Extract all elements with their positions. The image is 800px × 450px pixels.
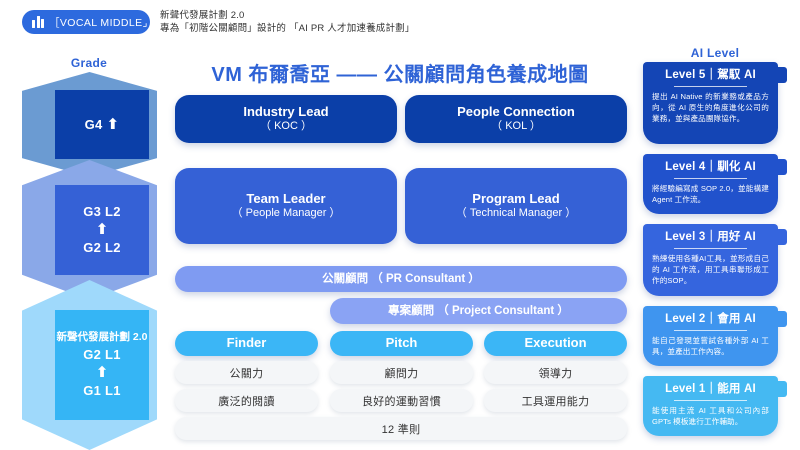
up-arrow-icon: ⬆ bbox=[96, 222, 109, 238]
grade-column-heading: Grade bbox=[34, 56, 144, 70]
foundation-label: 12 準則 bbox=[382, 421, 421, 437]
ai-level-title: Level 2｜會用 AI bbox=[652, 312, 769, 327]
role-card-pr-consultant[interactable]: 公關顧問 （ PR Consultant ） bbox=[175, 266, 627, 292]
foundation-habit-1: 廣泛的閱讀 bbox=[175, 389, 318, 412]
divider bbox=[674, 330, 747, 331]
ai-level-column-heading: AI Level bbox=[645, 46, 785, 60]
grade-label-g2l1: G2 L1 bbox=[83, 345, 121, 365]
grade-band-g2l1-g1l1: 新聲代發展計劃 2.0 G2 L1 ⬆ G1 L1 bbox=[22, 280, 157, 450]
foundation-label: 顧問力 bbox=[385, 365, 419, 381]
ai-level-card-1[interactable]: Level 1｜能用 AI 能使用主流 AI 工具和公司內部 GPTs 模板進行… bbox=[643, 376, 778, 436]
card-tab-shape bbox=[775, 229, 787, 245]
ai-level-body: 能使用主流 AI 工具和公司內部 GPTs 模板進行工作輔助。 bbox=[652, 405, 769, 427]
divider bbox=[674, 248, 747, 249]
role-card-project-consultant[interactable]: 專案顧問 （ Project Consultant ） bbox=[330, 298, 627, 324]
divider bbox=[674, 178, 747, 179]
foundation-label: 公關力 bbox=[230, 365, 264, 381]
ai-level-title: Level 5｜駕馭 AI bbox=[652, 68, 769, 83]
role-card-people-connection[interactable]: People Connection （ KOL ） bbox=[405, 95, 627, 143]
header-line-2: 專為「初階公關顧問」設計的 「AI PR 人才加速養成計劃」 bbox=[160, 22, 580, 35]
role-title: Industry Lead bbox=[243, 104, 328, 120]
stage-label: Finder bbox=[227, 335, 267, 351]
role-subtitle: （ KOC ） bbox=[260, 120, 312, 134]
grade-label-g4: G4 bbox=[85, 117, 103, 132]
ai-level-card-2[interactable]: Level 2｜會用 AI 能自己發現並嘗試各種外部 AI 工具，並產出工作內容… bbox=[643, 306, 778, 366]
divider bbox=[674, 400, 747, 401]
up-arrow-icon: ⬆ bbox=[107, 116, 120, 133]
foundation-label: 廣泛的閱讀 bbox=[218, 393, 275, 409]
ai-level-body: 提出 AI Native 的新業務或產品方向，從 AI 原生的角度進化公司的業務… bbox=[652, 91, 769, 124]
foundation-label: 工具運用能力 bbox=[522, 393, 590, 409]
grade-band-program-label: 新聲代發展計劃 2.0 bbox=[56, 329, 147, 345]
bar-chart-icon bbox=[32, 16, 44, 28]
grade-column: G4 ⬆ G3 L2 ⬆ G2 L2 新聲代發展計劃 2.0 G2 L1 ⬆ G… bbox=[22, 72, 157, 450]
card-tab-shape bbox=[775, 381, 787, 397]
header-subtitle-block: 新聲代發展計劃 2.0 專為「初階公關顧問」設計的 「AI PR 人才加速養成計… bbox=[160, 9, 580, 35]
slide-canvas: ［VOCAL MIDDLE⌟ 新聲代發展計劃 2.0 專為「初階公關顧問」設計的… bbox=[0, 0, 800, 450]
foundation-label: 領導力 bbox=[539, 365, 573, 381]
stage-card-execution[interactable]: Execution bbox=[484, 331, 627, 356]
foundation-principles: 12 準則 bbox=[175, 417, 627, 440]
foundation-skill-2: 顧問力 bbox=[330, 361, 473, 384]
grade-band-g1-inner: 新聲代發展計劃 2.0 G2 L1 ⬆ G1 L1 bbox=[55, 310, 149, 420]
ai-level-card-4[interactable]: Level 4｜馴化 AI 將經驗編寫成 SOP 2.0，並能構建 Agent … bbox=[643, 154, 778, 214]
ai-level-body: 將經驗編寫成 SOP 2.0，並能構建 Agent 工作流。 bbox=[652, 183, 769, 205]
ai-level-title: Level 1｜能用 AI bbox=[652, 382, 769, 397]
card-tab-shape bbox=[775, 159, 787, 175]
grade-band-g4-inner: G4 ⬆ bbox=[55, 90, 149, 159]
divider bbox=[674, 86, 747, 87]
vocal-middle-logo: ［VOCAL MIDDLE⌟ bbox=[22, 10, 150, 34]
grade-label-g3l2: G3 L2 bbox=[83, 202, 121, 222]
ai-level-title: Level 3｜用好 AI bbox=[652, 230, 769, 245]
ai-level-column: Level 5｜駕馭 AI 提出 AI Native 的新業務或產品方向，從 A… bbox=[640, 62, 790, 447]
foundation-habit-2: 良好的運動習慣 bbox=[330, 389, 473, 412]
card-tab-shape bbox=[775, 311, 787, 327]
card-tab-shape bbox=[775, 67, 787, 83]
ai-level-title: Level 4｜馴化 AI bbox=[652, 160, 769, 175]
stage-label: Pitch bbox=[386, 335, 418, 351]
grade-label-g2l2: G2 L2 bbox=[83, 238, 121, 258]
stage-label: Execution bbox=[524, 335, 586, 351]
ai-level-card-3[interactable]: Level 3｜用好 AI 熟練使用各種AI工具，並形成自己的 AI 工作流，用… bbox=[643, 224, 778, 296]
grade-band-g3-inner: G3 L2 ⬆ G2 L2 bbox=[55, 185, 149, 275]
stage-card-finder[interactable]: Finder bbox=[175, 331, 318, 356]
role-map: Industry Lead （ KOC ） People Connection … bbox=[175, 95, 627, 445]
stage-card-pitch[interactable]: Pitch bbox=[330, 331, 473, 356]
role-subtitle: （ People Manager ） bbox=[232, 207, 341, 221]
role-card-industry-lead[interactable]: Industry Lead （ KOC ） bbox=[175, 95, 397, 143]
foundation-habit-3: 工具運用能力 bbox=[484, 389, 627, 412]
grade-label-g1l1: G1 L1 bbox=[83, 381, 121, 401]
ai-level-card-5[interactable]: Level 5｜駕馭 AI 提出 AI Native 的新業務或產品方向，從 A… bbox=[643, 62, 778, 144]
role-title: 專案顧問 （ Project Consultant ） bbox=[388, 304, 569, 318]
grade-band-g3-g2l2: G3 L2 ⬆ G2 L2 bbox=[22, 160, 157, 300]
role-title: Team Leader bbox=[246, 191, 325, 207]
role-card-program-lead[interactable]: Program Lead （ Technical Manager ） bbox=[405, 168, 627, 244]
header-line-1: 新聲代發展計劃 2.0 bbox=[160, 9, 580, 22]
ai-level-body: 能自己發現並嘗試各種外部 AI 工具，並產出工作內容。 bbox=[652, 335, 769, 357]
page-title: VM 布爾喬亞 —— 公關顧問角色養成地圖 bbox=[175, 58, 625, 87]
up-arrow-icon: ⬆ bbox=[96, 365, 109, 381]
role-title: Program Lead bbox=[472, 191, 559, 207]
role-subtitle: （ Technical Manager ） bbox=[456, 207, 576, 221]
foundation-skill-1: 公關力 bbox=[175, 361, 318, 384]
logo-label: ［VOCAL MIDDLE⌟ bbox=[49, 15, 148, 30]
role-card-team-leader[interactable]: Team Leader （ People Manager ） bbox=[175, 168, 397, 244]
foundation-label: 良好的運動習慣 bbox=[362, 393, 441, 409]
ai-level-body: 熟練使用各種AI工具，並形成自己的 AI 工作流，用工具串聯形成工作的SOP。 bbox=[652, 253, 769, 286]
foundation-skill-3: 領導力 bbox=[484, 361, 627, 384]
role-title: People Connection bbox=[457, 104, 575, 120]
role-subtitle: （ KOL ） bbox=[491, 120, 541, 134]
role-title: 公關顧問 （ PR Consultant ） bbox=[322, 272, 480, 286]
